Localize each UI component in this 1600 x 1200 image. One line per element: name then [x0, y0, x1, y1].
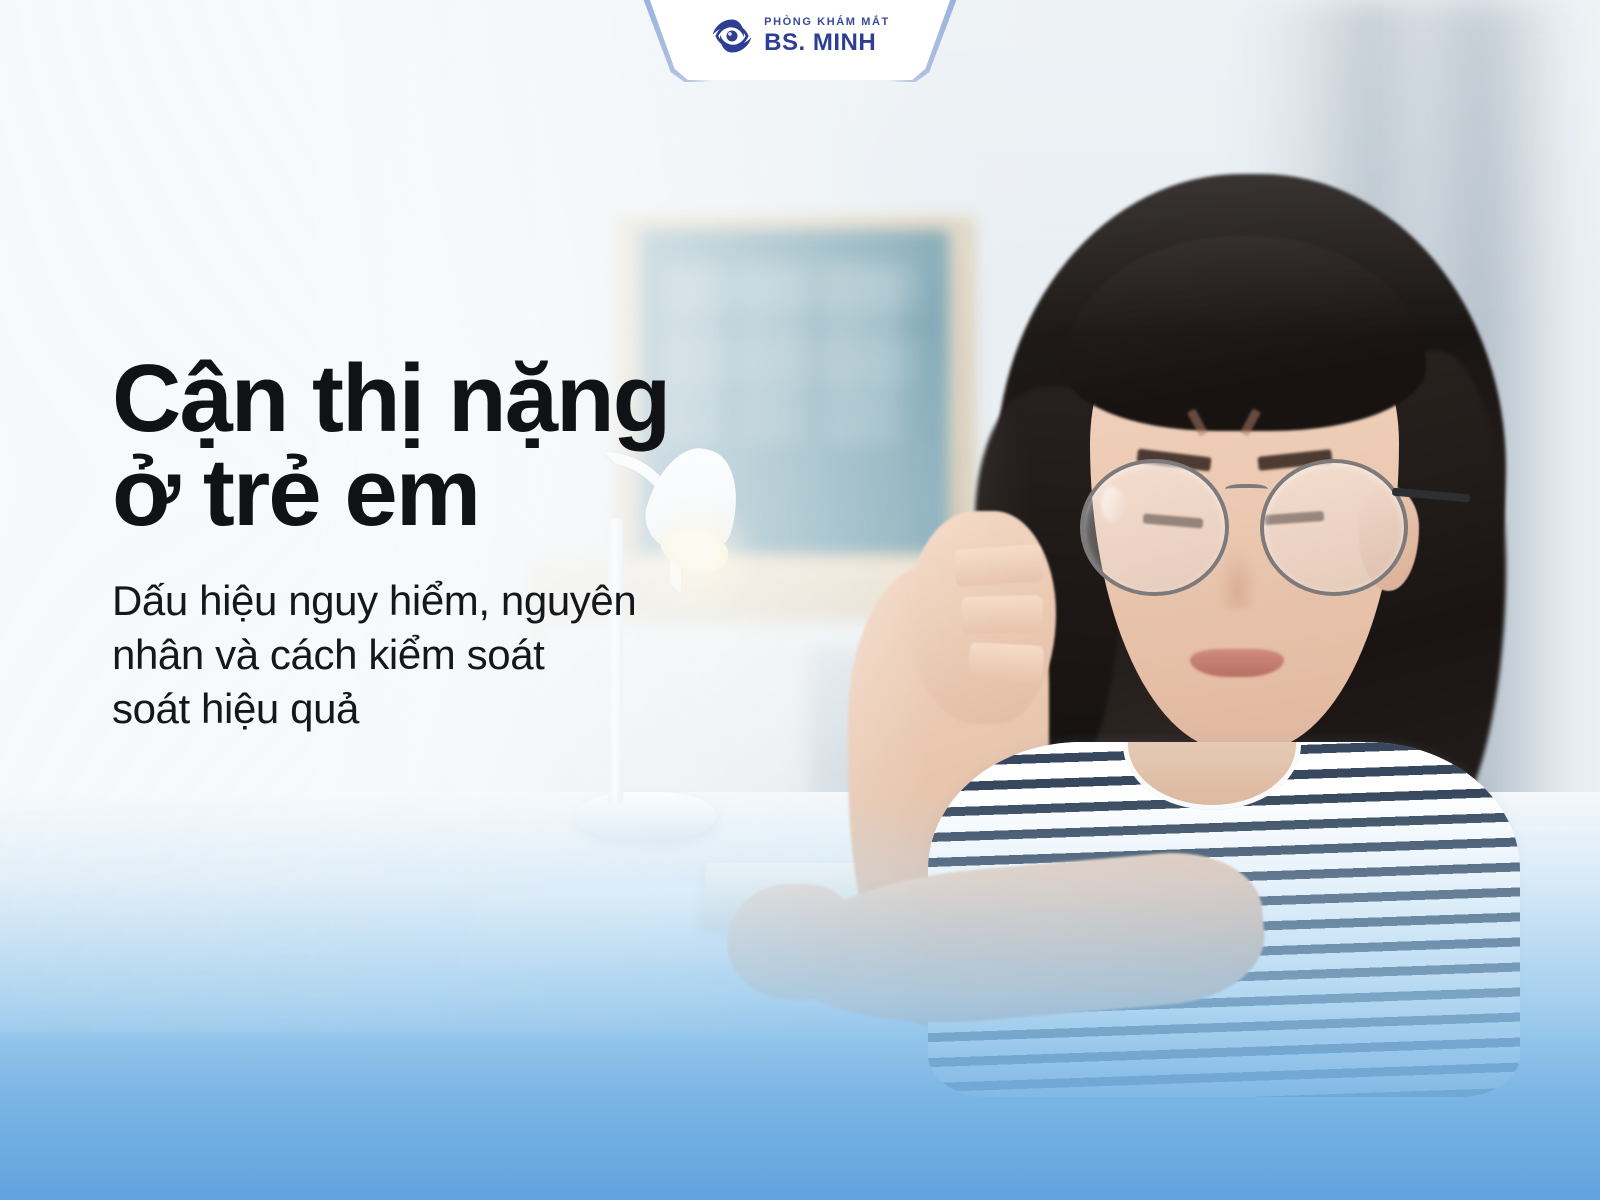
- lens-glare: [1101, 486, 1123, 522]
- finger: [968, 642, 1044, 683]
- subhead-line-3: soát hiệu quả: [112, 682, 812, 736]
- lens-left: [1080, 459, 1228, 596]
- subhead-line-2: nhân và cách kiểm soát: [112, 628, 812, 682]
- resting-hand: [727, 884, 861, 999]
- copy-block: Cận thị nặng ở trẻ em Dấu hiệu nguy hiểm…: [112, 352, 812, 735]
- page-title: Cận thị nặng ở trẻ em: [112, 352, 812, 540]
- lamp-base: [575, 792, 717, 840]
- glasses-bridge: [1225, 484, 1268, 497]
- finger: [962, 595, 1043, 634]
- headline-line-1: Cận thị nặng: [112, 345, 669, 452]
- brand-lockup: PHÒNG KHÁM MẮT BS. MINH: [764, 17, 890, 55]
- brand-banner: PHÒNG KHÁM MẮT BS. MINH: [635, 0, 965, 80]
- poster-canvas: PHÒNG KHÁM MẮT BS. MINH Cận thị nặng ở t…: [0, 0, 1600, 1200]
- eye-swirl-icon: [710, 14, 754, 58]
- finger: [954, 544, 1044, 587]
- headline-line-2: ở trẻ em: [112, 446, 812, 540]
- page-subtitle: Dấu hiệu nguy hiểm, nguyên nhân và cách …: [112, 574, 812, 735]
- subhead-line-1: Dấu hiệu nguy hiểm, nguyên: [112, 574, 812, 628]
- eyeglasses: [1049, 449, 1439, 609]
- girl-figure: [888, 156, 1560, 1044]
- lens-right: [1260, 459, 1408, 596]
- brand-name: BS. MINH: [764, 31, 890, 55]
- brand-tagline: PHÒNG KHÁM MẮT: [764, 17, 890, 28]
